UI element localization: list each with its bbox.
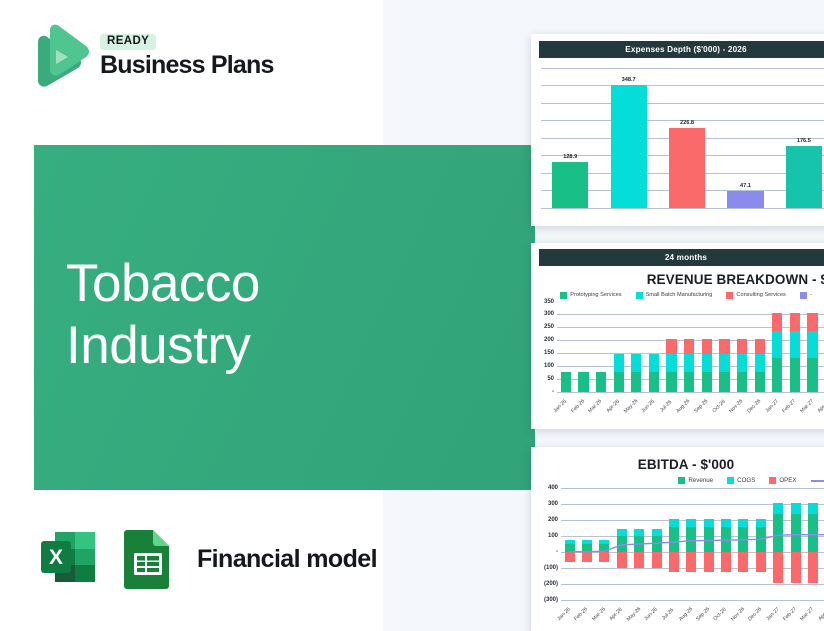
bar-slot	[733, 302, 751, 392]
bar-slot: 348.7	[599, 68, 657, 208]
bar-slot	[804, 302, 822, 392]
bar-segment	[666, 354, 676, 372]
bar-segment	[807, 358, 817, 391]
bar-segment	[790, 331, 800, 358]
stacked-bar	[790, 313, 800, 392]
y-axis-tick: 100	[544, 363, 554, 369]
stacked-bar	[561, 372, 571, 391]
bar-segment	[666, 339, 676, 354]
bar-slot	[645, 302, 663, 392]
legend-item: COGS	[727, 477, 755, 484]
y-axis-tick: 400	[548, 485, 558, 491]
bar-segment	[649, 372, 659, 392]
y-axis-tick: 100	[548, 533, 558, 539]
bar-slot: 47.1	[716, 68, 774, 208]
legend-item: Consulting Services	[726, 292, 785, 299]
bar-slot: 226.8	[658, 68, 716, 208]
y-axis-tick: 300	[544, 311, 554, 317]
bar-segment	[737, 339, 747, 354]
bar-segment	[631, 372, 641, 392]
legend-swatch	[726, 292, 733, 299]
gridline	[557, 392, 824, 393]
bar-segment	[737, 372, 747, 392]
y-axis-tick: -	[552, 389, 554, 395]
stacked-bar	[719, 339, 729, 391]
stacked-bar	[737, 339, 747, 391]
svg-text:X: X	[49, 546, 63, 569]
bar-segment	[666, 372, 676, 392]
bar-segment	[807, 331, 817, 358]
revenue-plot-area: 35030025020015010050-	[557, 302, 824, 392]
ebitda-plot-area: 400300200100-(100)(200)(300)	[561, 488, 824, 600]
stacked-bar	[684, 339, 694, 391]
bar	[611, 85, 647, 207]
stacked-bar	[702, 339, 712, 391]
bar-slot	[628, 302, 646, 392]
bar-segment	[614, 372, 624, 392]
expenses-chart-title: Expenses Depth ($'000) - 2026	[539, 41, 824, 58]
bar-segment	[755, 354, 765, 372]
stacked-bar	[614, 354, 624, 391]
y-axis-tick: -	[556, 549, 558, 555]
y-axis-tick: 350	[544, 299, 554, 305]
stacked-bar	[807, 313, 817, 392]
legend-swatch	[811, 480, 824, 482]
bar-segment	[684, 372, 694, 392]
legend-label: Revenue	[688, 477, 713, 484]
bar-segment	[719, 339, 729, 354]
legend-swatch	[769, 477, 776, 484]
y-axis-tick: (200)	[544, 581, 558, 587]
y-axis-tick: (300)	[544, 597, 558, 603]
revenue-chart-title: REVENUE BREAKDOWN - $'0	[531, 266, 824, 287]
legend-label: COGS	[737, 477, 755, 484]
bar-segment	[614, 354, 624, 372]
bar-segment	[596, 372, 606, 391]
microsoft-excel-icon: X	[33, 522, 103, 597]
gridline	[561, 600, 824, 601]
stacked-bar	[666, 339, 676, 391]
bar-value-label: 47.1	[740, 183, 751, 189]
bar-value-label: 348.7	[622, 77, 636, 83]
stacked-bar	[649, 354, 659, 391]
bar-slot	[663, 302, 681, 392]
financial-model-label: Financial model	[197, 545, 377, 574]
bar-segment	[790, 313, 800, 332]
bar-segment	[755, 339, 765, 354]
bar-group: 128.9348.7226.847.1176.5	[541, 68, 824, 208]
bar-segment	[631, 354, 641, 372]
y-axis-tick: (100)	[544, 565, 558, 571]
bar-segment	[684, 339, 694, 354]
legend-label: -	[810, 292, 812, 298]
bar-slot	[716, 302, 734, 392]
slide-root: READY Business Plans Tobacco Industry X	[0, 0, 824, 631]
bar-slot: 128.9	[541, 68, 599, 208]
brand-logo-block: READY Business Plans	[28, 24, 274, 88]
bar-segment	[737, 354, 747, 372]
bar	[669, 128, 705, 207]
bar-slot: 176.5	[775, 68, 824, 208]
chart-card-ebitda[interactable]: EBITDA - $'000 RevenueCOGSOPEX0 40030020…	[531, 447, 824, 631]
bar	[786, 146, 822, 208]
bar-segment	[719, 372, 729, 392]
bar-segment	[807, 313, 817, 332]
legend-label: OPEX	[779, 477, 796, 484]
legend-item: 0	[811, 477, 824, 484]
financial-model-block: X Financial model	[33, 522, 377, 597]
bar-slot	[698, 302, 716, 392]
bar-slot	[680, 302, 698, 392]
revenue-x-axis: Jan-26Feb-26Mar-26Apr-26May-26Jun-26Jul-…	[557, 401, 824, 423]
ready-badge: READY	[100, 34, 156, 51]
y-axis-tick: 50	[547, 376, 554, 382]
bar-segment	[719, 354, 729, 372]
page-title: Tobacco Industry	[66, 253, 260, 377]
revenue-legend: Prototyping ServicesSmall Batch Manufact…	[531, 287, 824, 301]
bar-segment	[755, 372, 765, 392]
legend-item: -	[800, 292, 812, 299]
google-sheets-icon	[117, 522, 179, 597]
bar-slot	[610, 302, 628, 392]
bar-segment	[578, 372, 588, 391]
bar-segment	[702, 339, 712, 354]
legend-swatch	[678, 477, 685, 484]
bar-value-label: 176.5	[797, 138, 811, 144]
stacked-bar	[596, 372, 606, 391]
legend-label: Consulting Services	[736, 292, 785, 298]
legend-label: Small Batch Manufacturing	[646, 292, 713, 298]
bar-segment	[772, 313, 782, 332]
bar-value-label: 226.8	[680, 120, 694, 126]
bar	[552, 162, 588, 207]
bar-segment	[702, 354, 712, 372]
stacked-bar	[578, 372, 588, 391]
y-axis-tick: 250	[544, 324, 554, 330]
stacked-bar-group	[557, 302, 824, 392]
expenses-plot-area: 128.9348.7226.847.1176.5	[541, 68, 824, 208]
bar-segment	[702, 372, 712, 392]
revenue-banner: 24 months	[539, 249, 824, 266]
ebitda-chart-title: EBITDA - $'000	[531, 447, 824, 472]
bar-value-label: 128.9	[563, 154, 577, 160]
brand-name: Business Plans	[100, 52, 274, 78]
bar-segment	[772, 358, 782, 391]
ebitda-zero-line	[561, 488, 824, 600]
legend-item: OPEX	[769, 477, 796, 484]
legend-item: Prototyping Services	[560, 292, 621, 299]
bar-slot	[557, 302, 575, 392]
gridline	[541, 208, 824, 209]
legend-item: Small Batch Manufacturing	[636, 292, 713, 299]
y-axis-tick: 300	[548, 501, 558, 507]
y-axis-tick: 200	[544, 337, 554, 343]
bar-segment	[561, 372, 571, 391]
bar-segment	[649, 354, 659, 372]
bar-slot	[786, 302, 804, 392]
legend-swatch	[560, 292, 567, 299]
bar-segment	[772, 331, 782, 358]
bar-slot	[769, 302, 787, 392]
bar-slot	[751, 302, 769, 392]
ebitda-x-axis: Jan-26Feb-26Mar-26Apr-26May-26Jun-26Jul-…	[561, 609, 824, 631]
legend-label: Prototyping Services	[570, 292, 621, 298]
stacked-bar	[772, 313, 782, 392]
play-triangle-logo-icon	[28, 24, 90, 88]
ebitda-legend: RevenueCOGSOPEX0	[531, 472, 824, 486]
chart-card-expenses[interactable]: Expenses Depth ($'000) - 2026 128.9348.7…	[531, 34, 824, 226]
bar-slot	[592, 302, 610, 392]
hero-panel: Tobacco Industry	[34, 145, 535, 490]
chart-card-revenue[interactable]: 24 months REVENUE BREAKDOWN - $'0 Protot…	[531, 243, 824, 429]
legend-item: Revenue	[678, 477, 713, 484]
legend-swatch	[727, 477, 734, 484]
bar-segment	[790, 358, 800, 391]
y-axis-tick: 200	[548, 517, 558, 523]
stacked-bar	[631, 354, 641, 391]
legend-swatch	[800, 292, 807, 299]
bar-segment	[684, 354, 694, 372]
bar-slot	[575, 302, 593, 392]
bar	[727, 191, 763, 207]
y-axis-tick: 150	[544, 350, 554, 356]
stacked-bar	[755, 339, 765, 391]
legend-swatch	[636, 292, 643, 299]
